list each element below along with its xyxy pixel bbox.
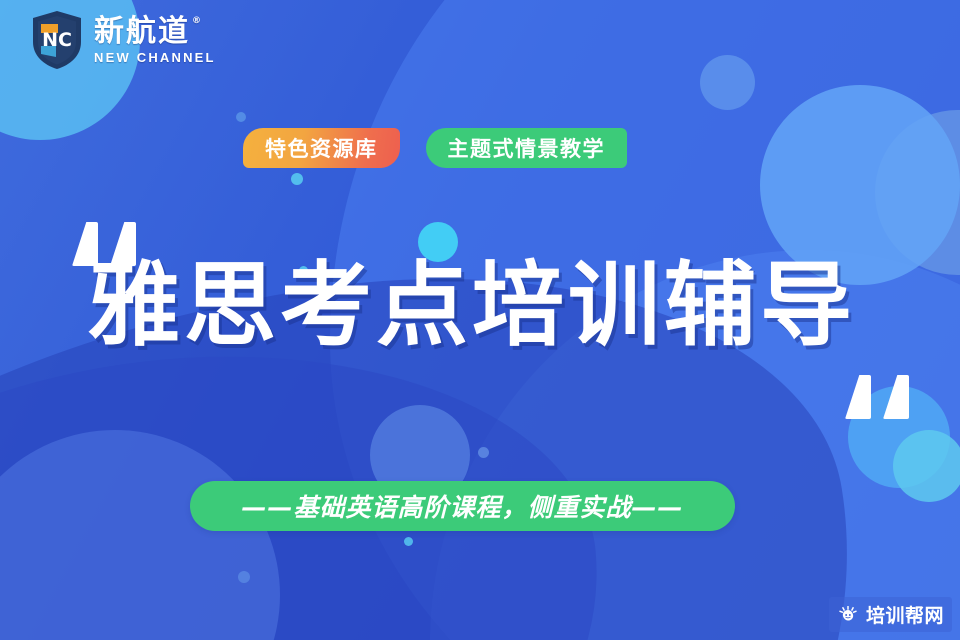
promo-banner: NC 新航道® NEW CHANNEL 特色资源库 主题式情景教学 雅思考点培训… (0, 0, 960, 640)
decorative-dot (238, 571, 250, 583)
decorative-dot (478, 447, 489, 458)
brand-logo: NC 新航道® NEW CHANNEL (30, 10, 216, 70)
headline-title: 雅思考点培训辅导 (88, 258, 856, 355)
nc-shield-icon: NC (30, 10, 84, 70)
feature-badge-row: 特色资源库 主题式情景教学 (243, 128, 627, 168)
sun-face-icon (837, 604, 859, 626)
decorative-circle-quote-front (893, 430, 960, 502)
watermark-label: 培训帮网 (866, 601, 944, 628)
registered-trademark-icon: ® (192, 17, 203, 26)
quote-mark-close (845, 375, 909, 419)
quote-glyph (845, 375, 871, 419)
svg-text:NC: NC (42, 29, 72, 51)
decorative-dot (404, 537, 413, 546)
feature-badge-resource-library: 特色资源库 (243, 128, 400, 168)
decorative-dot (291, 173, 303, 185)
subtitle-pill: ——基础英语高阶课程，侧重实战—— (190, 481, 735, 531)
brand-name-en: NEW CHANNEL (94, 51, 216, 64)
feature-badge-thematic-teaching: 主题式情景教学 (426, 128, 628, 168)
site-watermark: 培训帮网 (829, 597, 952, 632)
decorative-circle-upper-small (700, 55, 755, 110)
brand-wordmark: 新航道® NEW CHANNEL (94, 17, 216, 64)
brand-name-cn: 新航道® (94, 17, 190, 47)
decorative-dot (236, 112, 246, 122)
quote-glyph (883, 375, 909, 419)
